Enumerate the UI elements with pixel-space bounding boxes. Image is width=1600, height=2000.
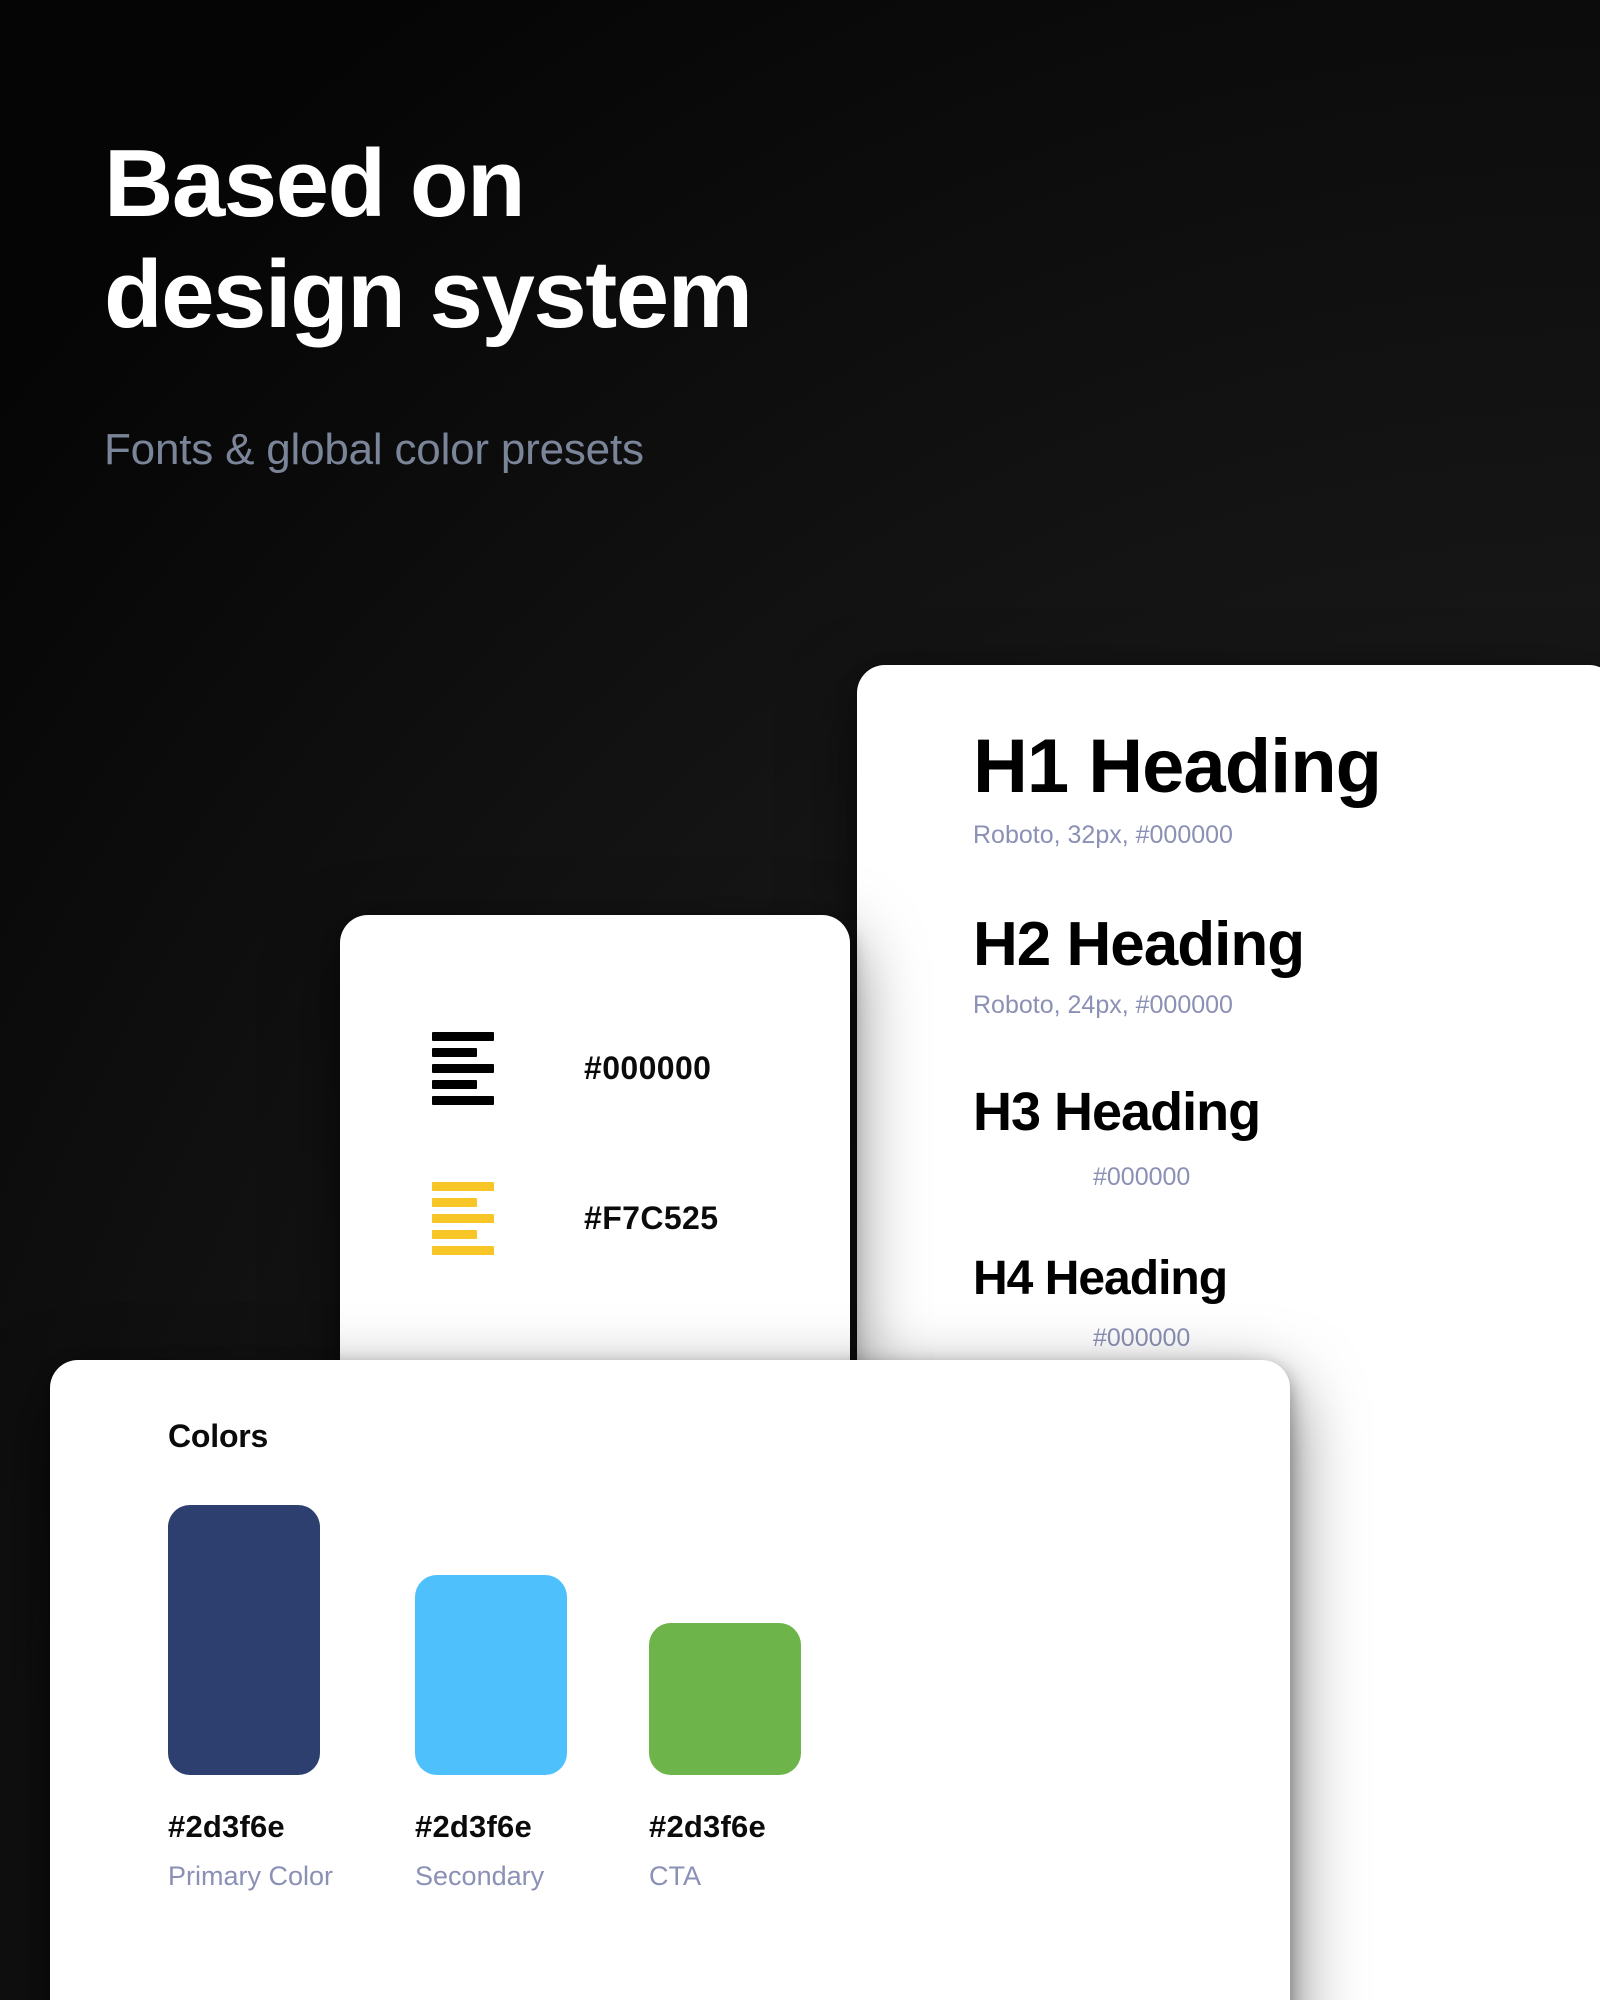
type-row-h1[interactable]: H1 Heading Roboto, 32px, #000000 [973, 727, 1600, 850]
color-swatch-primary[interactable]: #2d3f6e Primary Color [168, 1505, 333, 1892]
color-hex-black: #000000 [584, 1050, 711, 1087]
color-hex-secondary: #2d3f6e [415, 1809, 567, 1845]
color-hex-cta: #2d3f6e [649, 1809, 801, 1845]
color-chip-cta[interactable] [649, 1623, 801, 1775]
colors-card[interactable]: Colors #2d3f6e Primary Color #2d3f6e Sec… [50, 1360, 1290, 2000]
type-name-h3: H3 Heading [973, 1084, 1600, 1141]
text-color-card[interactable]: #000000 #F7C525 [340, 915, 850, 1395]
type-meta-h3: #000000 [1093, 1163, 1600, 1192]
type-meta-h4: #000000 [1093, 1324, 1600, 1353]
hero-section: Based on design system Fonts & global co… [104, 128, 1204, 475]
type-row-h4[interactable]: H4 Heading #000000 [973, 1254, 1600, 1353]
text-align-left-icon [432, 1032, 494, 1105]
type-meta-h2: Roboto, 24px, #000000 [973, 991, 1600, 1020]
color-role-cta: CTA [649, 1861, 801, 1892]
color-swatch-list: #2d3f6e Primary Color #2d3f6e Secondary … [168, 1505, 1290, 1892]
color-role-secondary: Secondary [415, 1861, 567, 1892]
color-row-yellow[interactable]: #F7C525 [340, 1143, 850, 1293]
color-chip-primary[interactable] [168, 1505, 320, 1775]
page-subtitle: Fonts & global color presets [104, 425, 1204, 475]
type-name-h2: H2 Heading [973, 912, 1600, 977]
color-swatch-cta[interactable]: #2d3f6e CTA [649, 1505, 801, 1892]
colors-card-title: Colors [168, 1418, 1290, 1455]
type-name-h4: H4 Heading [973, 1254, 1600, 1304]
slide-canvas: Based on design system Fonts & global co… [0, 0, 1600, 2000]
type-name-h1: H1 Heading [973, 727, 1600, 807]
color-row-black[interactable]: #000000 [340, 993, 850, 1143]
color-hex-yellow: #F7C525 [584, 1200, 718, 1237]
text-align-left-icon [432, 1182, 494, 1255]
type-row-h3[interactable]: H3 Heading #000000 [973, 1084, 1600, 1192]
type-row-h2[interactable]: H2 Heading Roboto, 24px, #000000 [973, 912, 1600, 1020]
page-title: Based on design system [104, 128, 1204, 351]
color-swatch-secondary[interactable]: #2d3f6e Secondary [415, 1505, 567, 1892]
type-meta-h1: Roboto, 32px, #000000 [973, 821, 1600, 850]
color-hex-primary: #2d3f6e [168, 1809, 333, 1845]
color-chip-secondary[interactable] [415, 1575, 567, 1775]
color-role-primary: Primary Color [168, 1861, 333, 1892]
